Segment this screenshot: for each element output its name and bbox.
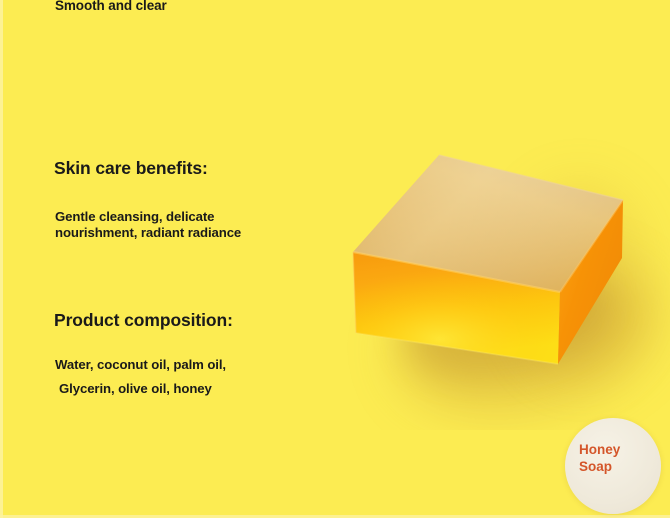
honey-soap-badge-label: HoneySoap [579,442,620,475]
tagline-text: Smooth and clear [55,0,167,14]
product-composition-heading: Product composition: [54,309,233,331]
honey-soap-badge[interactable]: HoneySoap [565,418,661,514]
badge-line-2: Soap [579,459,612,474]
skin-care-benefits-body: Gentle cleansing, delicate nourishment, … [55,209,241,240]
left-edge-highlight [0,0,3,518]
honey-soap-illustration [330,130,670,430]
product-composition-line-1: Water, coconut oil, palm oil, [55,357,226,373]
skin-care-benefits-heading: Skin care benefits: [54,157,208,179]
badge-line-1: Honey [579,442,620,457]
honey-soap-image [330,130,670,430]
product-poster: Smooth and clear Skin care benefits: Gen… [0,0,670,518]
product-composition-line-2: Glycerin, olive oil, honey [59,381,212,397]
